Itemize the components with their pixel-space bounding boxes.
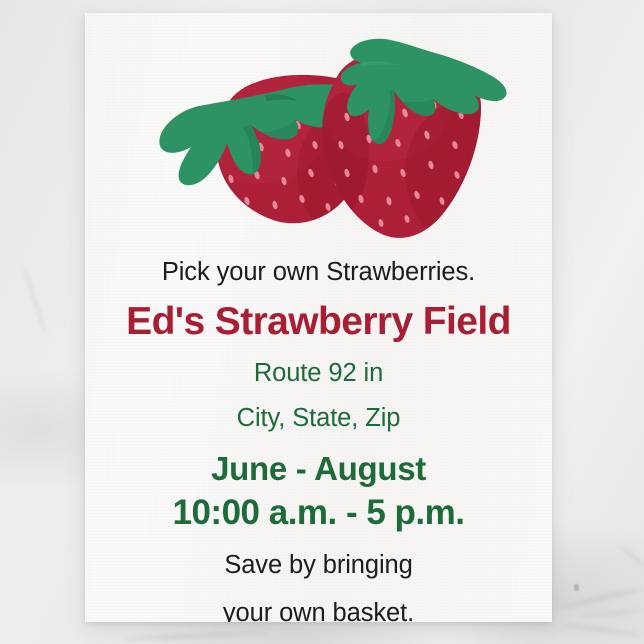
address-line-1: Route 92 in bbox=[85, 357, 552, 390]
marble-vein bbox=[120, 630, 270, 642]
marble-vein bbox=[560, 622, 644, 638]
season-text: June - August bbox=[85, 449, 552, 489]
marble-vein bbox=[557, 586, 644, 611]
address-line-2: City, State, Zip bbox=[85, 402, 552, 435]
scene-backdrop: Pick your own Strawberries. Ed's Strawbe… bbox=[0, 0, 644, 644]
flyer-text-block: Pick your own Strawberries. Ed's Strawbe… bbox=[85, 241, 552, 622]
marble-vein bbox=[23, 268, 47, 336]
hours-text: 10:00 a.m. - 5 p.m. bbox=[85, 493, 552, 533]
note-line-2: your own basket. bbox=[85, 597, 552, 622]
two-strawberries-illustration bbox=[85, 13, 552, 241]
marble-vein bbox=[618, 543, 644, 571]
marble-vein bbox=[580, 609, 644, 619]
marble-speck bbox=[574, 584, 579, 591]
farm-name-heading: Ed's Strawberry Field bbox=[85, 299, 552, 345]
note-line-1: Save by bringing bbox=[85, 549, 552, 581]
tagline-text: Pick your own Strawberries. bbox=[85, 259, 552, 286]
strawberry-flyer: Pick your own Strawberries. Ed's Strawbe… bbox=[85, 13, 552, 622]
